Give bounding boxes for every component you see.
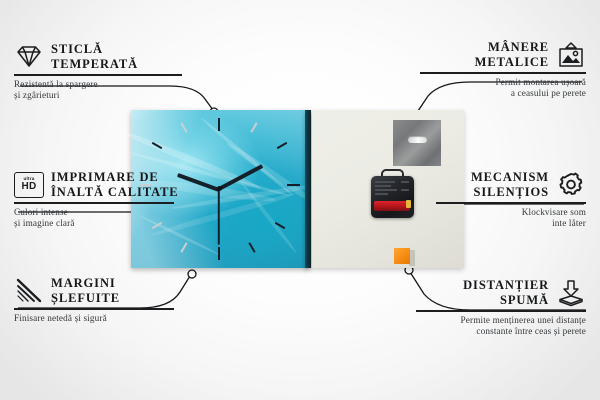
diamond-icon [14, 44, 44, 70]
callout-subtitle-line2: inte låter [436, 218, 586, 229]
ultra-hd-icon: ultra HD [14, 172, 44, 198]
callout-subtitle-line2: a ceasului pe perete [420, 88, 586, 99]
callout-title-line2: SPUMĂ [463, 293, 549, 308]
hanger-slot [408, 136, 427, 143]
callout-polished-edges: MARGINI ȘLEFUITE Finisare netedă și sigu… [14, 276, 182, 324]
ultra-hd-main-text: HD [21, 182, 36, 192]
callout-title-line1: DISTANȚIER [463, 278, 549, 293]
connector-dot-edges [188, 270, 196, 278]
callout-subtitle-line1: Finisare netedă și sigură [14, 313, 182, 324]
clock-center-hub [217, 186, 222, 191]
callout-title-line1: MÂNERE [475, 40, 549, 55]
callout-foam-spacer: DISTANȚIER SPUMĂ Permite menținerea unei… [416, 278, 586, 337]
foam-spacer-pad [394, 248, 410, 264]
metal-hanger-plate [393, 120, 441, 166]
callout-rule [416, 310, 586, 312]
clock-glass-edge [305, 110, 311, 268]
callout-rule [14, 202, 174, 204]
callout-metal-handles: MÂNERE METALICE Permit montarea ușoară a… [420, 40, 586, 99]
infographic-canvas: STICLĂ TEMPERATĂ Rezistentă la spargere … [0, 0, 600, 400]
callout-title-line2: ȘLEFUITE [51, 291, 120, 306]
callout-title-line2: TEMPERATĂ [51, 57, 138, 72]
battery-terminal [406, 200, 411, 208]
callout-title-line1: MECANISM [471, 170, 549, 185]
clock-battery [374, 201, 410, 211]
callout-title-line2: ÎNALTĂ CALITATE [51, 185, 179, 200]
callout-rule [14, 74, 182, 76]
callout-rule [436, 202, 586, 204]
callout-high-quality-print: ultra HD IMPRIMARE DE ÎNALTĂ CALITATE Cu… [14, 170, 182, 229]
callout-title-line2: SILENȚIOS [471, 185, 549, 200]
callout-title-line1: STICLĂ [51, 42, 138, 57]
callout-subtitle-line2: și imagine clară [14, 218, 182, 229]
callout-subtitle-line2: constante între ceas și perete [416, 326, 586, 337]
callout-subtitle-line1: Permite menținerea unei distanțe [416, 315, 586, 326]
callout-subtitle-line2: și zgârieturi [14, 90, 182, 101]
foam-spacer-icon [556, 279, 586, 307]
callout-title-line1: MARGINI [51, 276, 120, 291]
callout-rule [420, 72, 586, 74]
callout-subtitle-line1: Rezistentă la spargere [14, 79, 182, 90]
clock-mechanism [371, 176, 414, 218]
clock-second-hand [218, 189, 220, 245]
callout-silent-mechanism: MECANISM SILENȚIOS Klockvisare som inte … [436, 170, 586, 229]
callout-tempered-glass: STICLĂ TEMPERATĂ Rezistentă la spargere … [14, 42, 182, 101]
picture-hanger-icon [556, 41, 586, 69]
gear-icon [556, 171, 586, 199]
beveled-edge-icon [14, 278, 44, 304]
callout-subtitle-line1: Culori intense [14, 207, 182, 218]
callout-title-line2: METALICE [475, 55, 549, 70]
callout-subtitle-line1: Klockvisare som [436, 207, 586, 218]
callout-rule [14, 308, 174, 310]
callout-subtitle-line1: Permit montarea ușoară [420, 77, 586, 88]
callout-title-line1: IMPRIMARE DE [51, 170, 179, 185]
